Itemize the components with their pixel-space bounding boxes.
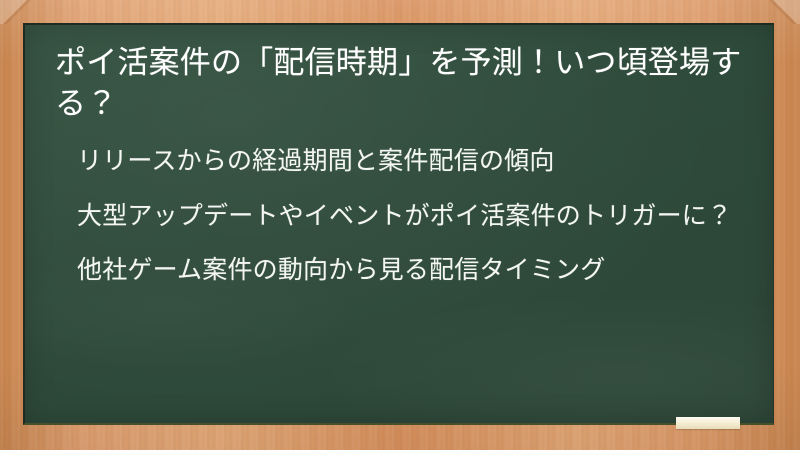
- slide-outline-list: リリースからの経過期間と案件配信の傾向 大型アップデートやイベントがポイ活案件の…: [47, 124, 751, 288]
- frame-corner-top-left: [0, 0, 34, 24]
- slide-title: ポイ活案件の「配信時期」を予測！いつ頃登場する？: [47, 31, 745, 124]
- outline-item: リリースからの経過期間と案件配信の傾向: [77, 144, 737, 179]
- outline-item: 大型アップデートやイベントがポイ活案件のトリガーに？: [77, 199, 737, 234]
- outline-item: 他社ゲーム案件の動向から見る配信タイミング: [77, 253, 737, 288]
- wooden-frame: ポイ活案件の「配信時期」を予測！いつ頃登場する？ リリースからの経過期間と案件配…: [0, 0, 800, 450]
- chalkboard: ポイ活案件の「配信時期」を予測！いつ頃登場する？ リリースからの経過期間と案件配…: [23, 23, 774, 425]
- chalk-stick-icon: [676, 417, 740, 429]
- frame-corner-top-right: [766, 0, 800, 24]
- chalkboard-content: ポイ活案件の「配信時期」を予測！いつ頃登場する？ リリースからの経過期間と案件配…: [25, 25, 773, 423]
